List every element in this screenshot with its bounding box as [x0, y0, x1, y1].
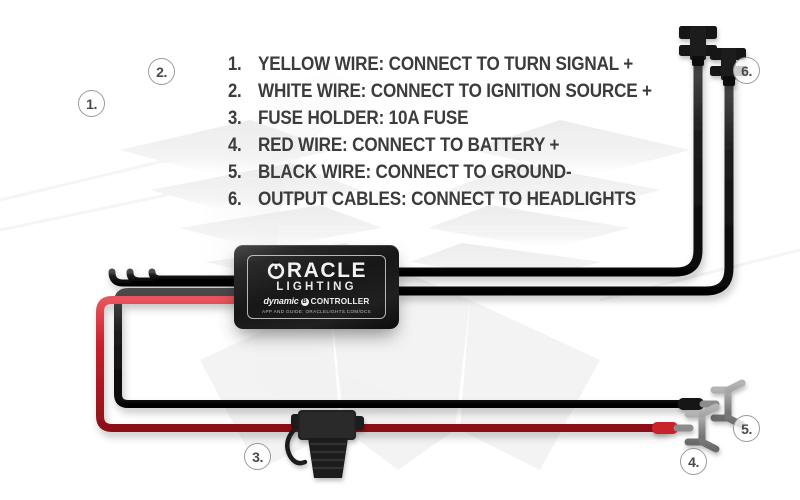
bluetooth-icon: B [301, 298, 309, 306]
callout-badge-2: 2. [148, 58, 175, 85]
legend-number: 6. [228, 189, 254, 211]
legend-item: 5. BLACK WIRE: CONNECT TO GROUND- [228, 162, 648, 189]
black-ground-wire [118, 292, 688, 404]
brand-main-text: RACLE [287, 260, 367, 281]
brand-dynamic-text: dynamic [264, 297, 299, 306]
legend-number: 4. [228, 135, 254, 157]
brand-controller-text: CONTROLLER [311, 298, 370, 306]
red-fork-terminal [652, 407, 716, 449]
legend-label: RED WIRE: CONNECT TO BATTERY + [258, 135, 559, 157]
callout-badge-4: 4. [680, 448, 707, 475]
brand-oracle-wordmark: RACLE [266, 260, 367, 281]
dynamic-controller-module: RACLE LIGHTING dynamic B CONTROLLER APP … [234, 245, 399, 329]
brand-lighting-text: LIGHTING [276, 282, 357, 294]
legend-item: 6. OUTPUT CABLES: CONNECT TO HEADLIGHTS [228, 189, 648, 216]
fuse-holder [287, 410, 364, 478]
legend-number: 5. [228, 162, 254, 184]
power-symbol-icon [266, 260, 286, 280]
legend-label: OUTPUT CABLES: CONNECT TO HEADLIGHTS [258, 189, 636, 211]
legend-number: 3. [228, 108, 254, 130]
legend-label: WHITE WIRE: CONNECT TO IGNITION SOURCE + [258, 81, 652, 103]
legend-label: YELLOW WIRE: CONNECT TO TURN SIGNAL + [258, 54, 633, 76]
legend-number: 2. [228, 81, 254, 103]
legend-label: BLACK WIRE: CONNECT TO GROUND- [258, 162, 571, 184]
callout-badge-6: 6. [733, 57, 760, 84]
legend-item: 3. FUSE HOLDER: 10A FUSE [228, 108, 648, 135]
module-label-plate: RACLE LIGHTING dynamic B CONTROLLER APP … [247, 255, 386, 319]
legend-list: 1. YELLOW WIRE: CONNECT TO TURN SIGNAL +… [228, 54, 648, 216]
legend-label: FUSE HOLDER: 10A FUSE [258, 108, 468, 130]
module-fine-print: APP AND GUIDE: ORACLELIGHTS.COM/DCS [262, 310, 371, 315]
callout-badge-5: 5. [733, 415, 760, 442]
legend-item: 4. RED WIRE: CONNECT TO BATTERY + [228, 135, 648, 162]
legend-item: 2. WHITE WIRE: CONNECT TO IGNITION SOURC… [228, 81, 648, 108]
wiring-diagram-canvas: RACLE LIGHTING dynamic B CONTROLLER APP … [0, 0, 800, 500]
legend-number: 1. [228, 54, 254, 76]
callout-badge-3: 3. [244, 443, 271, 470]
legend-item: 1. YELLOW WIRE: CONNECT TO TURN SIGNAL + [228, 54, 648, 81]
black-fork-terminal [678, 383, 742, 425]
callout-badge-1: 1. [78, 90, 105, 117]
brand-product-line: dynamic B CONTROLLER [264, 297, 370, 306]
headlight-connector-1 [679, 26, 717, 66]
